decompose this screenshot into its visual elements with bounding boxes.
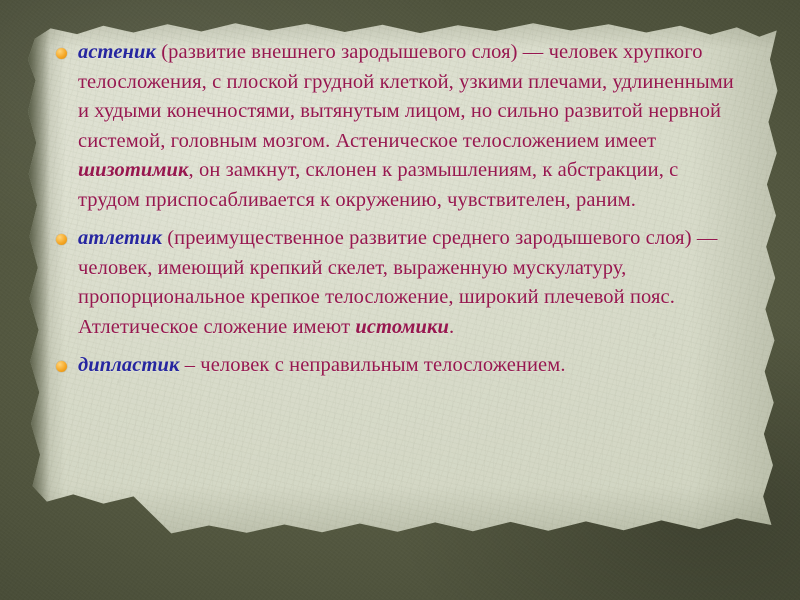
orange-dot-bullet-icon: [56, 234, 67, 245]
term-asthenic: астеник: [78, 41, 156, 63]
slide-canvas: астеник (развитие внешнего зародышевого …: [0, 0, 800, 600]
bullet-item-athletic: атлетик (преимущественное развитие средн…: [56, 224, 742, 342]
slide-content: астеник (развитие внешнего зародышевого …: [28, 18, 782, 538]
orange-dot-bullet-icon: [56, 48, 67, 59]
bullet-item-asthenic: астеник (развитие внешнего зародышевого …: [56, 38, 742, 215]
bullet-body-asthenic-part1: (развитие внешнего зародышевого слоя) — …: [78, 41, 734, 152]
term-dysplastic: дипластик: [78, 354, 179, 376]
bullet-text-asthenic: астеник (развитие внешнего зародышевого …: [78, 38, 742, 215]
torn-paper-sheet: астеник (развитие внешнего зародышевого …: [28, 18, 782, 538]
term-schizothymic: шизотимик: [78, 159, 189, 181]
bullet-body-athletic-part2: .: [449, 316, 454, 338]
bullet-text-athletic: атлетик (преимущественное развитие средн…: [78, 224, 742, 342]
bullet-text-dysplastic: дипластик – человек с неправильным телос…: [78, 351, 742, 381]
bullet-body-dysplastic: – человек с неправильным телосложением.: [179, 354, 565, 376]
bullet-item-dysplastic: дипластик – человек с неправильным телос…: [56, 351, 742, 381]
term-istomics: истомики: [355, 316, 449, 338]
orange-dot-bullet-icon: [56, 361, 67, 372]
term-athletic: атлетик: [78, 227, 162, 249]
